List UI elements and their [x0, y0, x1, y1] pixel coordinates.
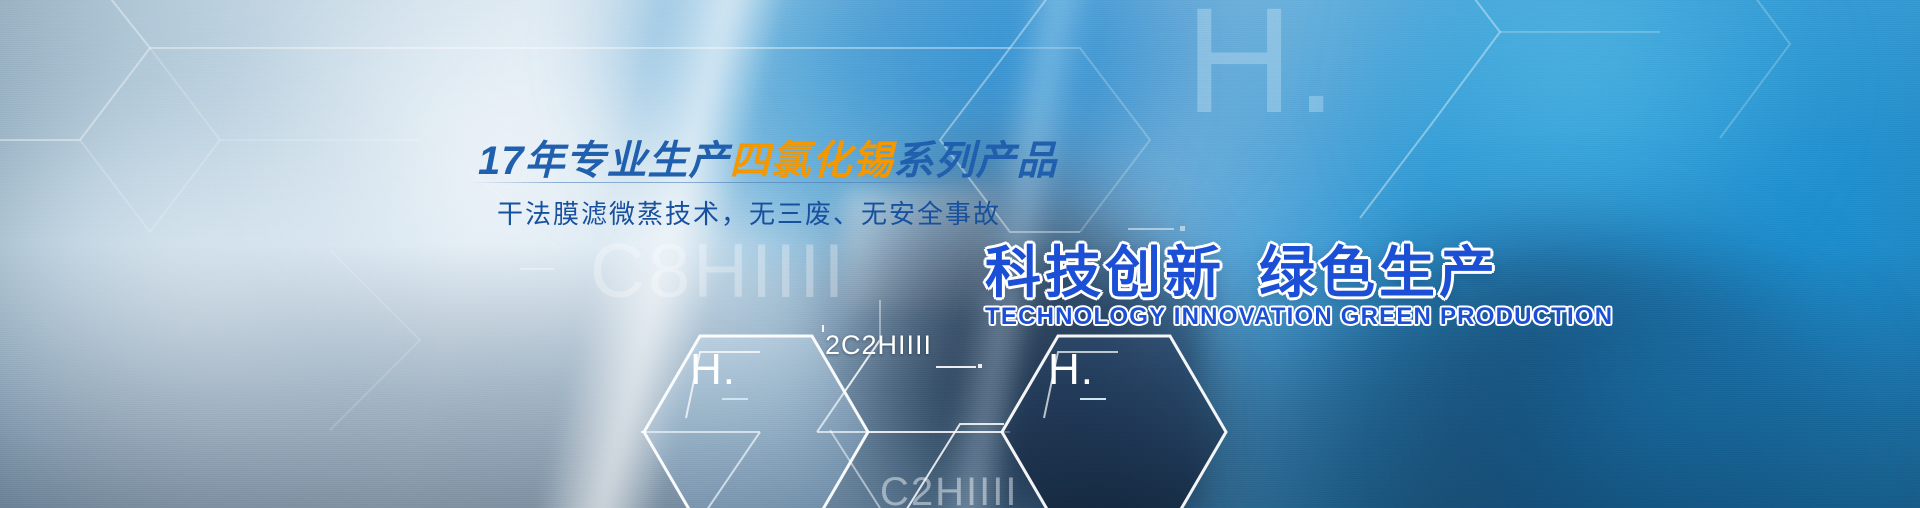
film-grain-overlay — [0, 0, 1920, 508]
hero-banner: H. C8HIIII C2HIIII 2C2HIIII H. H. 17年专业生… — [0, 0, 1920, 508]
